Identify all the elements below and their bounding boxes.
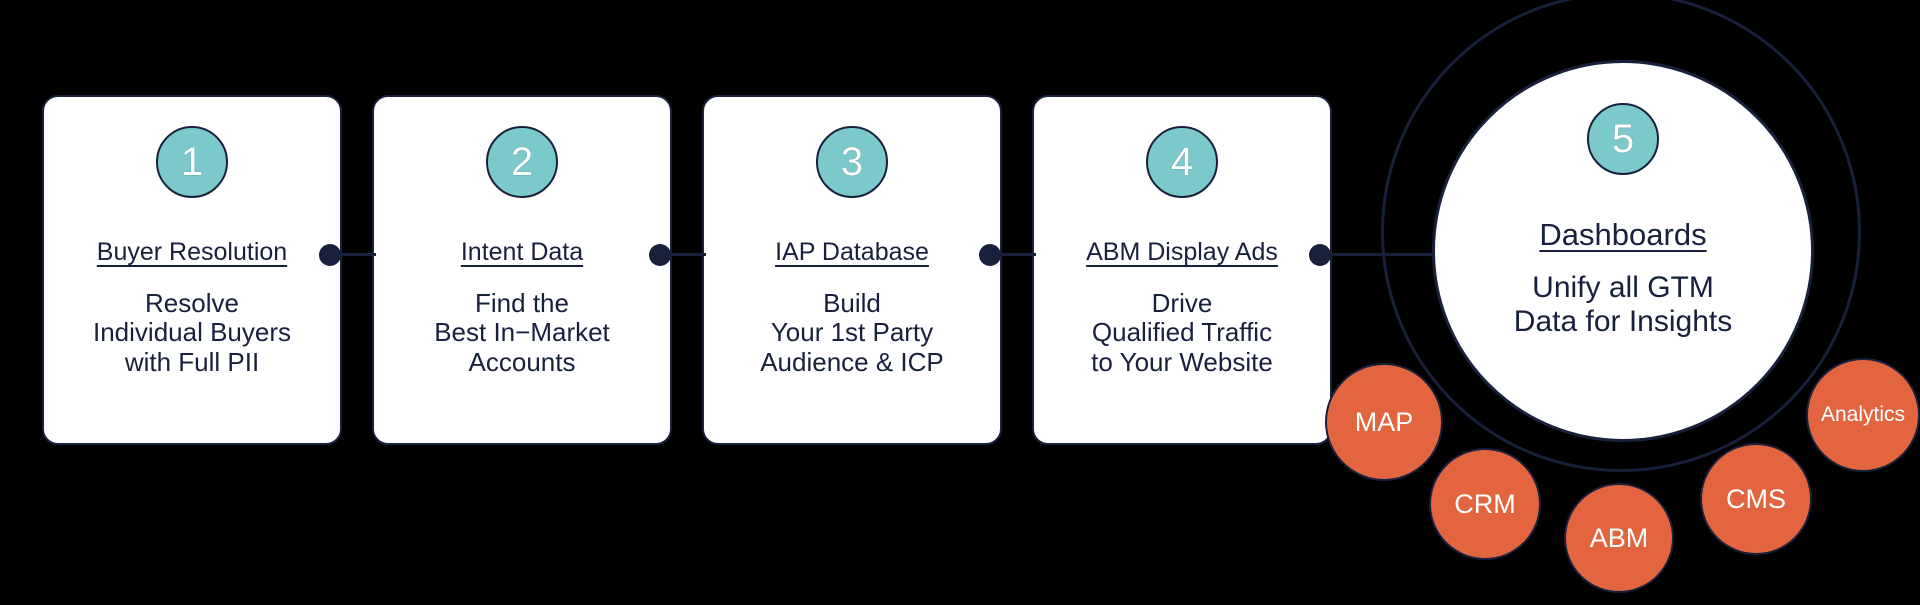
step-title: Intent Data xyxy=(461,238,583,267)
step-body: Resolve Individual Buyers with Full PII xyxy=(93,289,291,377)
hub-dashboards[interactable]: 5 Dashboards Unify all GTM Data for Insi… xyxy=(1432,60,1814,442)
step-card-2[interactable]: 2 Intent Data Find the Best In−Market Ac… xyxy=(372,95,672,445)
hub-title: Dashboards xyxy=(1539,217,1706,253)
step-body: Find the Best In−Market Accounts xyxy=(434,289,610,377)
connector-dot-icon xyxy=(319,244,341,266)
connector-dot-icon xyxy=(979,244,1001,266)
bubble-analytics[interactable]: Analytics xyxy=(1806,358,1920,472)
connector-step-4-to-hub xyxy=(1320,253,1440,256)
step-number-badge: 2 xyxy=(486,126,558,198)
step-title: Buyer Resolution xyxy=(97,238,287,267)
step-title: ABM Display Ads xyxy=(1086,238,1278,267)
step-body: Drive Qualified Traffic to Your Website xyxy=(1091,289,1273,377)
connector-step-2-to-3 xyxy=(660,253,706,256)
step-number-badge: 3 xyxy=(816,126,888,198)
diagram-canvas: 1 Buyer Resolution Resolve Individual Bu… xyxy=(0,0,1920,605)
step-card-4[interactable]: 4 ABM Display Ads Drive Qualified Traffi… xyxy=(1032,95,1332,445)
connector-step-1-to-2 xyxy=(330,253,376,256)
connector-step-3-to-4 xyxy=(990,253,1036,256)
step-body: Build Your 1st Party Audience & ICP xyxy=(760,289,944,377)
bubble-abm[interactable]: ABM xyxy=(1564,483,1674,593)
connector-dot-icon xyxy=(1309,244,1331,266)
hub-number-badge: 5 xyxy=(1587,103,1659,175)
bubble-crm[interactable]: CRM xyxy=(1429,448,1541,560)
step-card-1[interactable]: 1 Buyer Resolution Resolve Individual Bu… xyxy=(42,95,342,445)
connector-dot-icon xyxy=(649,244,671,266)
step-number-badge: 1 xyxy=(156,126,228,198)
bubble-map[interactable]: MAP xyxy=(1325,363,1443,481)
step-number-badge: 4 xyxy=(1146,126,1218,198)
hub-body: Unify all GTM Data for Insights xyxy=(1514,271,1732,339)
bubble-cms[interactable]: CMS xyxy=(1700,443,1812,555)
step-title: IAP Database xyxy=(775,238,929,267)
step-card-3[interactable]: 3 IAP Database Build Your 1st Party Audi… xyxy=(702,95,1002,445)
